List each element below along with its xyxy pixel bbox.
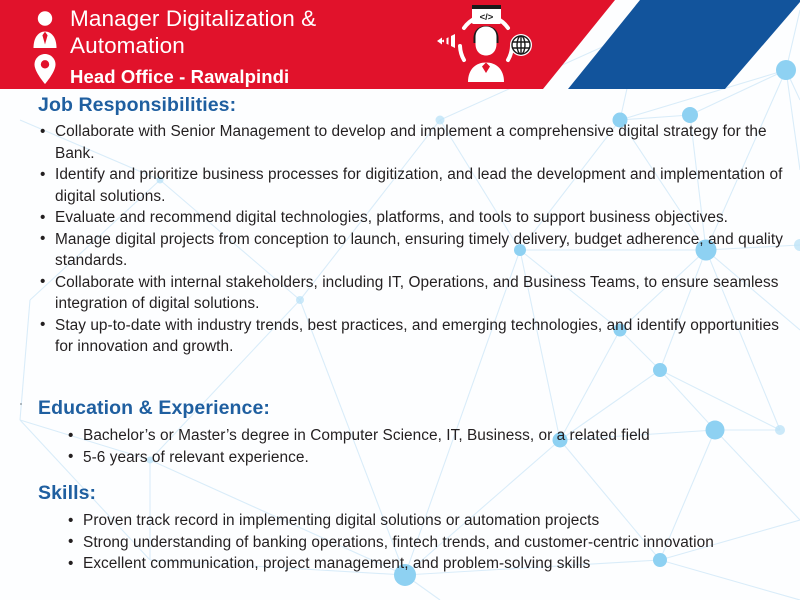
list-item: Manage digital projects from conception … <box>38 229 783 272</box>
digital-professional-illustration: </> <box>434 4 538 86</box>
list-item: 5-6 years of relevant experience. <box>66 447 778 469</box>
section-education: Education & Experience: Bachelor’s or Ma… <box>38 397 778 468</box>
section-heading-responsibilities: Job Responsibilities: <box>38 94 783 117</box>
responsibilities-list: Collaborate with Senior Management to de… <box>38 121 783 358</box>
list-item: Excellent communication, project managem… <box>66 553 778 575</box>
section-heading-skills: Skills: <box>38 482 778 505</box>
rocket-icon <box>437 34 455 48</box>
list-item: Stay up-to-date with industry trends, be… <box>38 315 783 358</box>
section-responsibilities: Job Responsibilities: Collaborate with S… <box>38 94 783 358</box>
globe-icon <box>510 34 532 56</box>
business-person-icon <box>30 10 60 50</box>
header-banner: Manager Digitalization & Automation Head… <box>0 0 800 90</box>
list-item: Collaborate with Senior Management to de… <box>38 121 783 164</box>
location-pin-icon <box>33 53 57 85</box>
svg-text:</>: </> <box>480 12 494 23</box>
education-list: Bachelor’s or Master’s degree in Compute… <box>38 425 778 468</box>
stray-dot-artifact <box>20 403 22 405</box>
list-item: Bachelor’s or Master’s degree in Compute… <box>66 425 778 447</box>
list-item: Proven track record in implementing digi… <box>66 510 778 532</box>
section-skills: Skills: Proven track record in implement… <box>38 482 778 575</box>
header-icon-column <box>26 6 66 86</box>
job-posting-poster: Manager Digitalization & Automation Head… <box>0 0 800 600</box>
list-item: Evaluate and recommend digital technolog… <box>38 207 783 229</box>
posting-body: Job Responsibilities: Collaborate with S… <box>0 90 800 600</box>
list-item: Identify and prioritize business process… <box>38 164 783 207</box>
person-avatar-icon <box>468 26 504 82</box>
skills-list: Proven track record in implementing digi… <box>38 510 778 575</box>
list-item: Collaborate with internal stakeholders, … <box>38 272 783 315</box>
section-heading-education: Education & Experience: <box>38 397 778 420</box>
code-window-icon: </> <box>472 5 501 24</box>
list-item: Strong understanding of banking operatio… <box>66 532 778 554</box>
